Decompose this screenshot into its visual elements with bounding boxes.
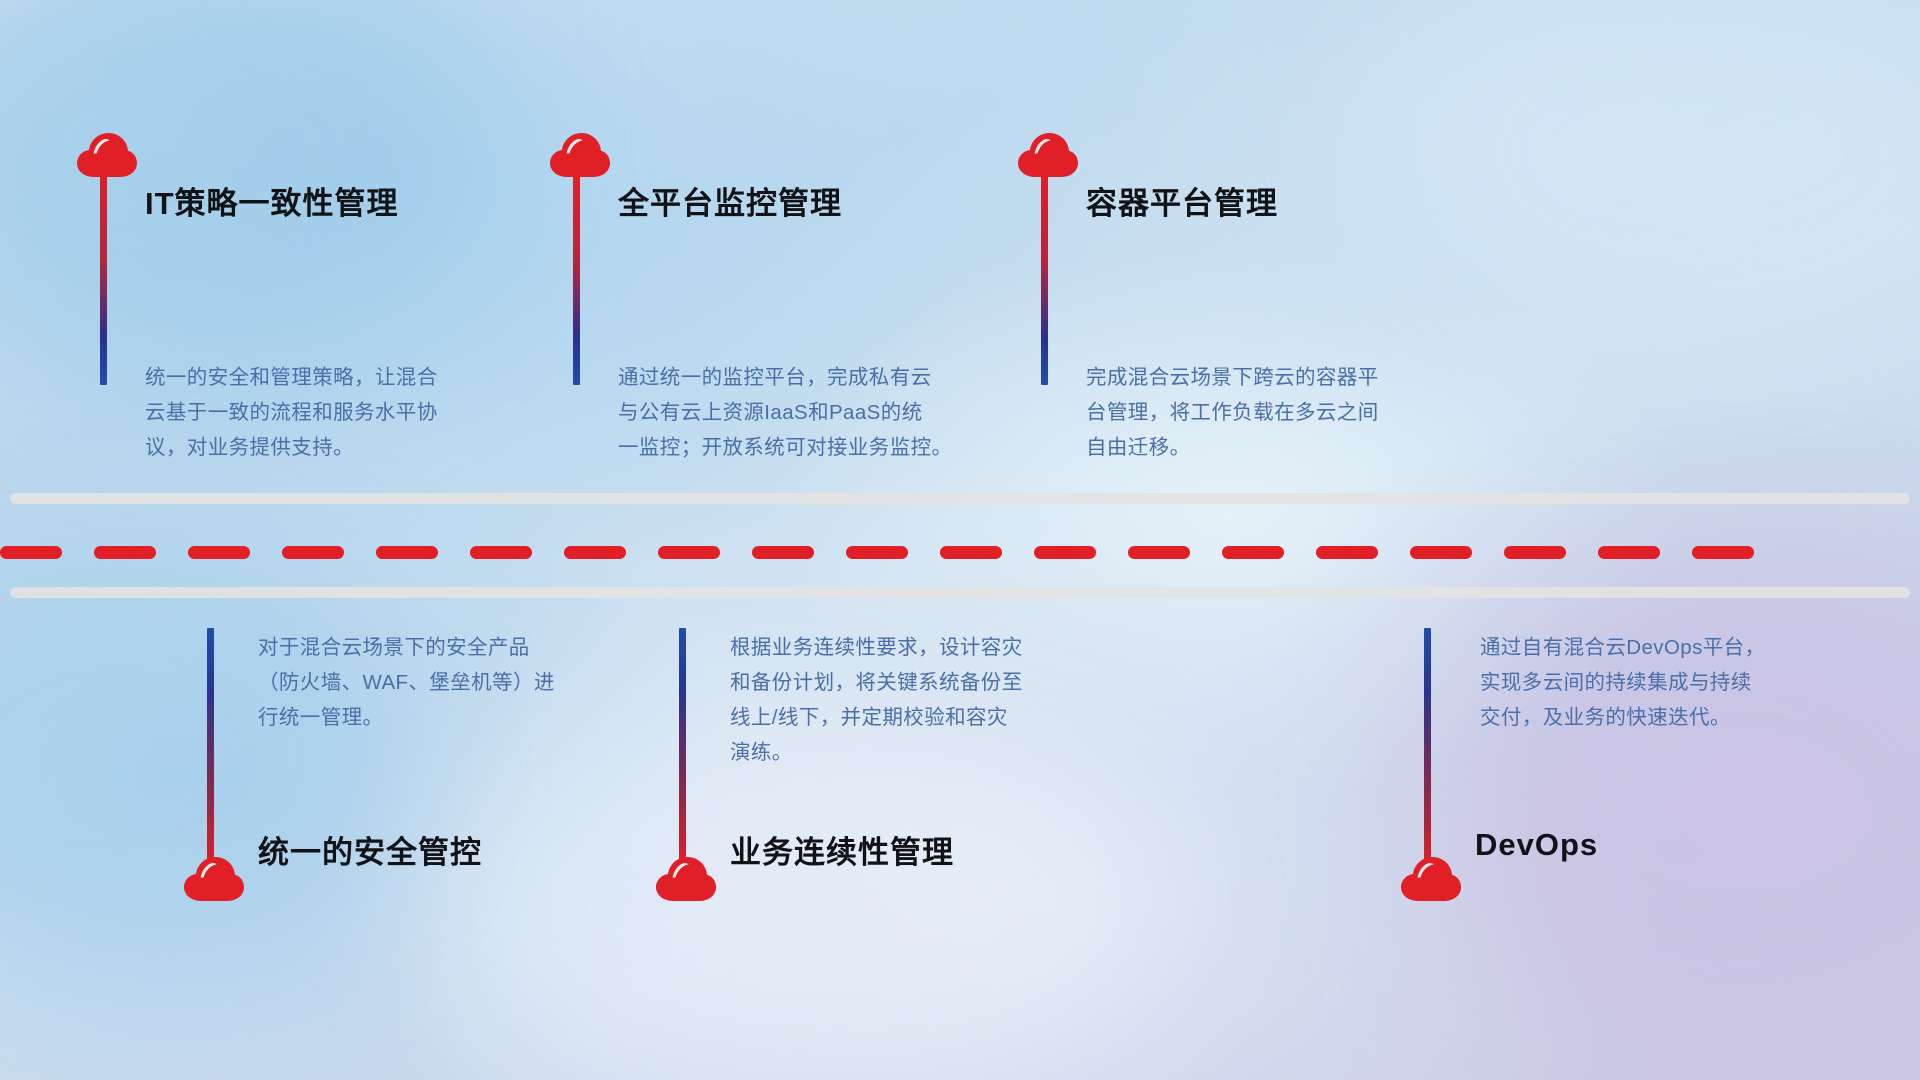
divider-dash: [94, 546, 156, 559]
divider-dash: [1504, 546, 1566, 559]
connector-line: [207, 628, 214, 866]
divider-rail-top: [10, 493, 1910, 504]
divider-dash: [376, 546, 438, 559]
infographic-canvas: IT策略一致性管理 统一的安全和管理策略，让混合 云基于一致的流程和服务水平协 …: [0, 0, 1920, 1080]
divider-dash: [0, 546, 62, 559]
divider-dash: [1410, 546, 1472, 559]
bottom-item-1-description: 对于混合云场景下的安全产品 （防火墙、WAF、堡垒机等）进 行统一管理。: [258, 630, 658, 735]
bottom-item-2-title: 业务连续性管理: [730, 827, 954, 872]
connector-line: [679, 628, 686, 866]
connector-line: [1041, 172, 1048, 385]
divider-dash: [752, 546, 814, 559]
divider-dash: [940, 546, 1002, 559]
connector-line: [100, 172, 107, 385]
bottom-item-1-title: 统一的安全管控: [258, 827, 482, 872]
divider-dash: [1692, 546, 1754, 559]
divider-dash: [470, 546, 532, 559]
cloud-icon: [183, 856, 245, 902]
divider-dash: [1034, 546, 1096, 559]
divider-dash: [658, 546, 720, 559]
cloud-icon: [76, 132, 138, 178]
bottom-item-3-description: 通过自有混合云DevOps平台， 实现多云间的持续集成与持续 交付，及业务的快速…: [1480, 630, 1880, 735]
top-item-2-description: 通过统一的监控平台，完成私有云 与公有云上资源IaaS和PaaS的统 一监控；开…: [618, 360, 1018, 465]
divider-dash: [1128, 546, 1190, 559]
background-haze-2: [1380, 0, 1920, 360]
top-item-1-title: IT策略一致性管理: [145, 178, 399, 223]
bottom-item-3-title: DevOps: [1475, 827, 1598, 863]
top-item-1-description: 统一的安全和管理策略，让混合 云基于一致的流程和服务水平协 议，对业务提供支持。: [145, 360, 515, 465]
bottom-item-2-description: 根据业务连续性要求，设计容灾 和备份计划，将关键系统备份至 线上/线下，并定期校…: [730, 630, 1130, 770]
connector-line: [573, 172, 580, 385]
divider-dashed-line: [0, 545, 1920, 559]
divider-dash: [1598, 546, 1660, 559]
cloud-icon: [1400, 856, 1462, 902]
top-item-3-description: 完成混合云场景下跨云的容器平 台管理，将工作负载在多云之间 自由迁移。: [1086, 360, 1466, 465]
top-item-3-title: 容器平台管理: [1086, 178, 1278, 223]
divider-rail-bottom: [10, 587, 1910, 598]
divider-dash: [1316, 546, 1378, 559]
divider-dash: [564, 546, 626, 559]
divider-dash: [282, 546, 344, 559]
divider-dash: [188, 546, 250, 559]
cloud-icon: [655, 856, 717, 902]
cloud-icon: [1017, 132, 1079, 178]
cloud-icon: [549, 132, 611, 178]
connector-line: [1424, 628, 1431, 866]
background-haze-5: [0, 540, 400, 980]
divider-dash: [846, 546, 908, 559]
top-item-2-title: 全平台监控管理: [618, 178, 842, 223]
divider-dash: [1222, 546, 1284, 559]
